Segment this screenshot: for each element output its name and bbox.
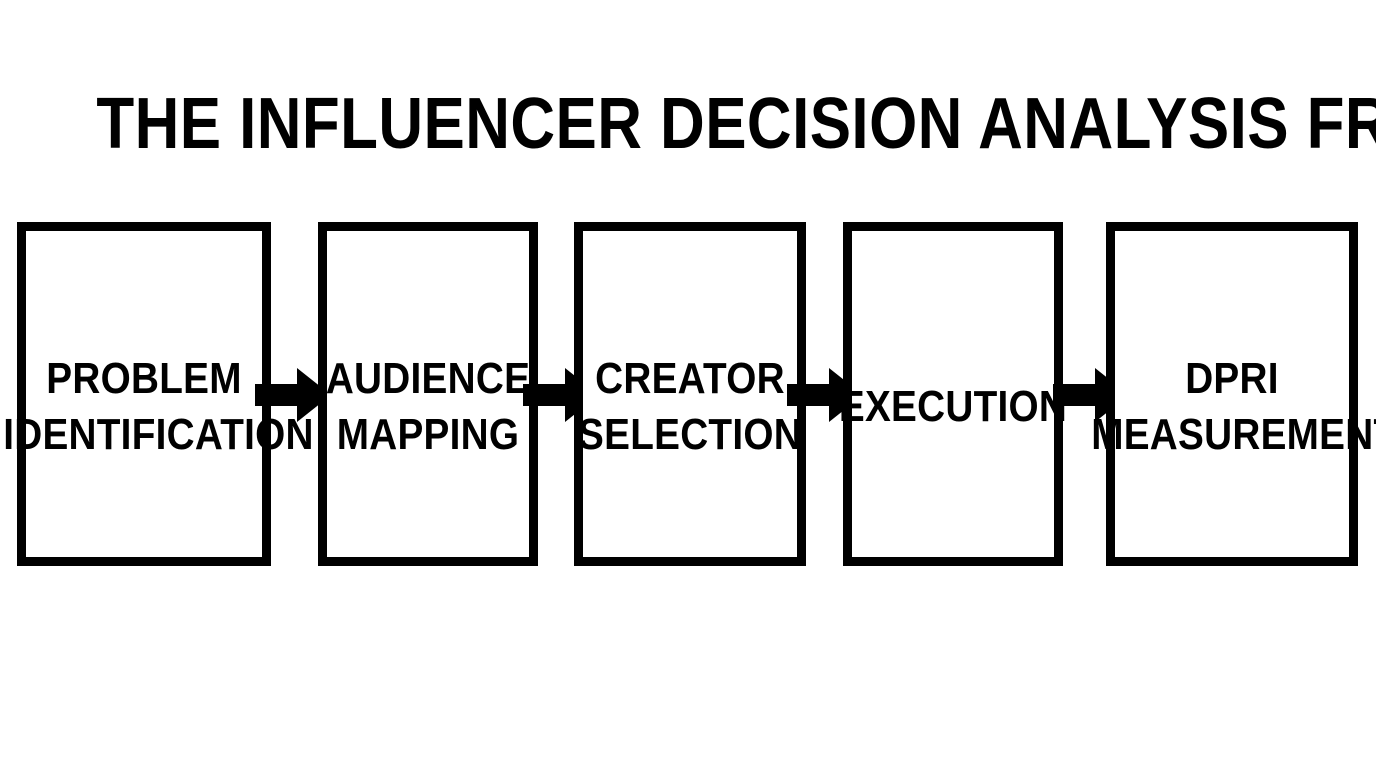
flow-step-label: PROBLEM IDENTIFICATION [3, 351, 285, 463]
page-title: THE INFLUENCER DECISION ANALYSIS FRAMEWO… [96, 86, 1279, 162]
framework-slide: THE INFLUENCER DECISION ANALYSIS FRAMEWO… [0, 0, 1376, 768]
flow-step-problem-identification[interactable]: PROBLEM IDENTIFICATION [17, 222, 271, 566]
process-flow-diagram: PROBLEM IDENTIFICATION AUDIENCE MAPPING … [17, 222, 1359, 566]
flow-step-dpri-measurement[interactable]: DPRI MEASUREMENT [1106, 222, 1358, 566]
flow-step-execution[interactable]: EXECUTION [843, 222, 1063, 566]
flow-step-audience-mapping[interactable]: AUDIENCE MAPPING [318, 222, 538, 566]
flow-step-creator-selection[interactable]: CREATOR SELECTION [574, 222, 806, 566]
flow-step-label: EXECUTION [812, 379, 1094, 435]
flow-step-label: DPRI MEASUREMENT [1091, 351, 1373, 463]
